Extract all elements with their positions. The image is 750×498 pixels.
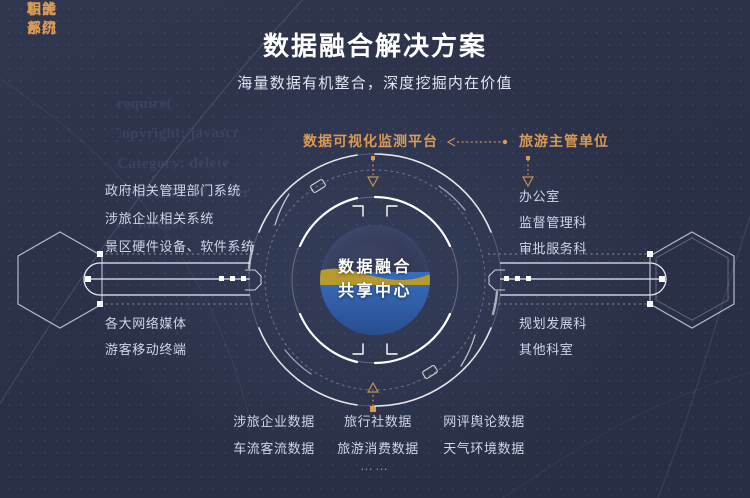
right-item-1: 监督管理科 <box>519 212 587 231</box>
page-subtitle: 海量数据有机整合，深度挖掘内在价值 <box>0 72 750 93</box>
left-item-3: 各大网络媒体 <box>105 313 187 332</box>
bottom-item-r1c0: 车流客流数据 <box>228 438 320 457</box>
bottom-item-r0c2: 网评舆论数据 <box>434 411 534 430</box>
hexagon-right-line2: 部门 <box>0 19 84 38</box>
bottom-ellipsis: …… <box>0 458 750 473</box>
bottom-item-r0c1: 旅行社数据 <box>332 411 424 430</box>
left-item-4: 游客移动终端 <box>105 339 187 358</box>
left-item-1: 涉旅企业相关系统 <box>105 208 214 227</box>
page-title: 数据融合解决方案 <box>0 26 750 63</box>
header-arrow-icon <box>446 137 510 147</box>
hexagon-right-shape <box>650 232 734 328</box>
right-item-3: 规划发展科 <box>519 313 587 332</box>
bottom-item-r1c1: 旅游消费数据 <box>332 438 424 457</box>
hexagon-left-shape <box>18 232 102 328</box>
header-tourism-authority[interactable]: 旅游主管单位 <box>519 131 609 151</box>
right-item-2: 审批服务科 <box>519 238 587 257</box>
center-label-line1: 数据融合 <box>315 253 435 277</box>
bottom-item-r0c0: 涉旅企业数据 <box>228 411 320 430</box>
right-item-4: 其他科室 <box>519 339 573 358</box>
infographic-canvas: require( Copyright: javascr Category: de… <box>0 0 750 498</box>
header-visualization-platform[interactable]: 数据可视化监测平台 <box>303 131 438 151</box>
center-label-line2: 共享中心 <box>315 277 435 301</box>
left-item-0: 政府相关管理部门系统 <box>105 180 241 199</box>
bottom-item-r1c2: 天气环境数据 <box>434 438 534 457</box>
right-item-0: 办公室 <box>519 186 560 205</box>
left-item-2: 景区硬件设备、软件系统 <box>105 236 255 255</box>
hexagon-right-label: 职能 部门 <box>0 0 84 38</box>
hexagon-right-line1: 职能 <box>0 0 84 19</box>
